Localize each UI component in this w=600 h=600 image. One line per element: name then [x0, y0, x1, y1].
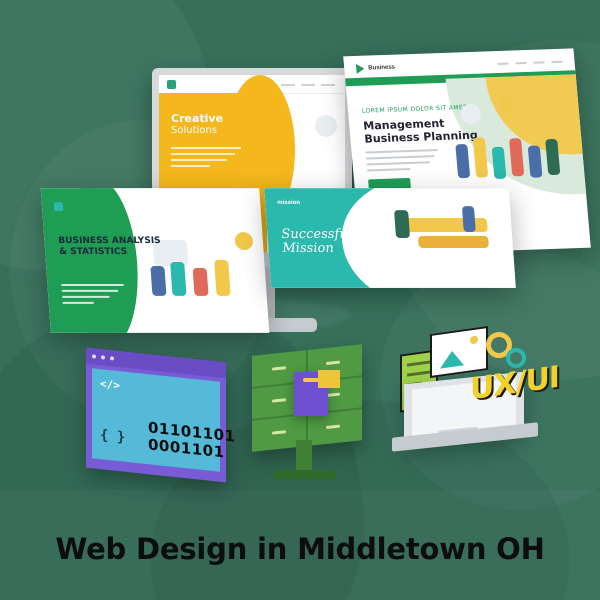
- card-title: BUSINESS ANALYSIS & STATISTICS: [58, 236, 162, 258]
- monitor-title: Creative Solutions: [171, 113, 223, 137]
- window-dot-icon: [92, 354, 96, 358]
- logo-icon: [167, 80, 176, 89]
- card-green-panel: [41, 188, 108, 333]
- drawer-handle[interactable]: [326, 425, 340, 429]
- drawer-handle[interactable]: [272, 366, 286, 370]
- nav-line-icon: [301, 84, 315, 86]
- card-title-line1: Successful: [281, 228, 352, 242]
- nav-line-icon: [281, 84, 295, 86]
- card-title-line2: & STATISTICS: [59, 247, 162, 258]
- nav-line-icon: [321, 84, 335, 86]
- monitor-neck: [296, 440, 312, 474]
- card-title: Management Business Planning: [363, 116, 479, 146]
- illustration-figure: [462, 206, 476, 232]
- panel-line: [407, 360, 431, 366]
- monitor-body-lines: [171, 147, 241, 171]
- monitor-title-line2: Solutions: [171, 125, 223, 137]
- card-body-lines: [61, 284, 125, 308]
- logo-icon: [54, 202, 64, 211]
- illustration-shape: [234, 232, 253, 250]
- illustration-canvas: Creative Solutions Business: [0, 0, 600, 600]
- drawer-handle[interactable]: [272, 430, 286, 434]
- card-body-lines: [366, 149, 440, 175]
- illustration-figure: [455, 144, 470, 178]
- code-brace-icon: { }: [100, 427, 125, 446]
- window-dot-icon: [110, 356, 114, 360]
- illustration-shape: [418, 236, 489, 248]
- window-dot-icon: [101, 355, 105, 359]
- successful-mission-card: mission Successful Mission: [264, 188, 516, 288]
- mountain-icon: [440, 349, 464, 368]
- illustration-figure: [150, 266, 166, 296]
- card-title-line2: Mission: [282, 242, 353, 256]
- card-nav: [497, 61, 562, 65]
- card-curve-shape: [61, 188, 143, 333]
- monitor-base: [274, 470, 336, 479]
- business-analysis-card: BUSINESS ANALYSIS & STATISTICS: [41, 188, 270, 333]
- card-title: Successful Mission: [281, 228, 353, 256]
- drawer-handle[interactable]: [326, 393, 340, 397]
- page-title: Web Design in Middletown OH: [0, 532, 600, 566]
- card-brand: Business: [356, 63, 396, 74]
- drawer-handle[interactable]: [326, 361, 340, 365]
- code-tag-icon: </>: [100, 377, 120, 392]
- brand-triangle-icon: [356, 64, 365, 74]
- nav-line-icon: [551, 61, 562, 63]
- illustration-shape: [315, 115, 337, 137]
- yellow-accent-box: [318, 370, 340, 388]
- monitor-title-line1: Creative: [171, 113, 223, 125]
- illustration-figure: [170, 262, 186, 296]
- card-title-line2: Business Planning: [364, 129, 478, 146]
- panel-line: [407, 370, 431, 376]
- card-brand: mission: [277, 200, 300, 206]
- card-brand: [53, 198, 63, 216]
- drawer-knob[interactable]: [303, 378, 319, 382]
- nav-line-icon: [497, 63, 508, 65]
- drawer-handle[interactable]: [272, 398, 286, 402]
- illustration-figure: [394, 210, 410, 238]
- brand-name: Business: [368, 65, 395, 72]
- illustration-figure: [214, 260, 231, 296]
- nav-line-icon: [515, 62, 526, 64]
- card-title-line1: BUSINESS ANALYSIS: [58, 236, 161, 247]
- card-kicker: LOREM IPSUM DOLOR SIT AMET: [362, 104, 468, 115]
- code-browser-window: </> { }: [86, 348, 226, 483]
- sun-icon: [470, 335, 478, 344]
- nav-line-icon: [533, 61, 544, 63]
- illustration-figure: [193, 268, 209, 296]
